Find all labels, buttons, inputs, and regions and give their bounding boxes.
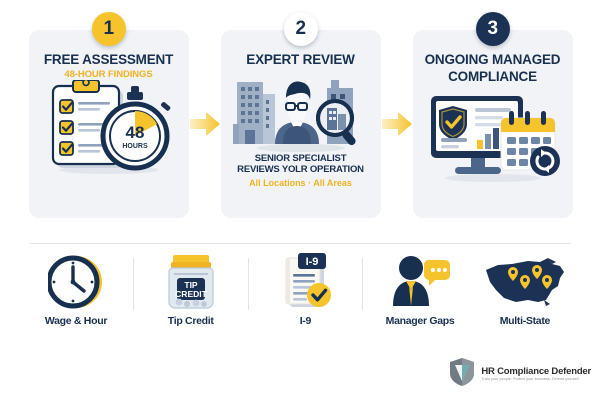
svg-text:I-9: I-9 xyxy=(306,256,319,268)
category-item-manager-gaps[interactable]: Manager Gaps xyxy=(372,252,468,327)
logo-name: HR Compliance Defender xyxy=(481,367,591,377)
category-label-manager-gaps: Manager Gaps xyxy=(372,315,468,327)
category-separator xyxy=(133,258,134,310)
clipboard-stopwatch-illustration: 48 HOURS xyxy=(37,80,181,176)
category-separator xyxy=(248,258,249,310)
category-label-tip-credit: Tip Credit xyxy=(143,315,239,327)
step-caption-2-sub: All Locations · All Areas xyxy=(229,178,373,188)
us-map-pins-icon xyxy=(477,252,573,312)
step-panel-1[interactable]: 1 FREE ASSESSMENT 48-HOUR FINDINGS xyxy=(29,30,189,218)
step-title-3-line1: ONGOING MANAGED xyxy=(421,52,565,67)
steps-row: 1 FREE ASSESSMENT 48-HOUR FINDINGS xyxy=(0,0,601,238)
step-panel-2[interactable]: 2 EXPERT REVIEW xyxy=(221,30,381,218)
step-title-1: FREE ASSESSMENT xyxy=(37,52,181,67)
category-item-tip-credit[interactable]: TIP CREDIT Tip Credit xyxy=(143,252,239,327)
svg-text:HOURS: HOURS xyxy=(122,143,148,150)
specialist-buildings-magnifier-illustration xyxy=(229,69,373,153)
category-item-wage-hour[interactable]: Wage & Hour xyxy=(28,252,124,327)
arrow-step2-to-step3 xyxy=(381,30,413,218)
step-caption-2-line1: SENIOR SPECIALIST xyxy=(229,153,373,164)
tip-jar-icon: TIP CREDIT xyxy=(143,252,239,312)
logo-text-block: HR Compliance Defender Train your people… xyxy=(481,367,591,382)
category-item-i9[interactable]: I-9 I-9 xyxy=(257,252,353,327)
logo-tagline: Train your people. Protect your business… xyxy=(481,378,591,382)
svg-text:CREDIT: CREDIT xyxy=(175,289,207,299)
section-divider xyxy=(30,243,571,244)
step-subtitle-1: 48-HOUR FINDINGS xyxy=(37,69,181,80)
i9-document-icon: I-9 xyxy=(257,252,353,312)
step-panel-3[interactable]: 3 ONGOING MANAGED COMPLIANCE xyxy=(413,30,573,218)
step-caption-2-line2: REVIEWS YOLR OPERATION xyxy=(229,164,373,175)
category-separator xyxy=(362,258,363,310)
step-badge-3: 3 xyxy=(476,12,510,46)
brand-logo[interactable]: HR Compliance Defender Train your people… xyxy=(449,357,591,392)
arrow-step1-to-step2 xyxy=(189,30,221,218)
shield-logo-icon xyxy=(449,357,475,392)
step-badge-1: 1 xyxy=(92,12,126,46)
category-label-wage-hour: Wage & Hour xyxy=(28,315,124,327)
category-label-multi-state: Multi-State xyxy=(477,315,573,327)
step-badge-2: 2 xyxy=(284,12,318,46)
step-title-2: EXPERT REVIEW xyxy=(229,52,373,67)
svg-text:48: 48 xyxy=(125,123,144,142)
monitor-dashboard-calendar-illustration xyxy=(421,86,565,182)
infographic-canvas: 1 FREE ASSESSMENT 48-HOUR FINDINGS xyxy=(0,0,601,400)
category-row: Wage & Hour TIP CREDIT xyxy=(28,252,573,342)
category-item-multi-state[interactable]: Multi-State xyxy=(477,252,573,327)
clock-icon xyxy=(28,252,124,312)
step-title-3-line2: COMPLIANCE xyxy=(421,69,565,84)
manager-speech-icon xyxy=(372,252,468,312)
category-label-i9: I-9 xyxy=(257,315,353,327)
